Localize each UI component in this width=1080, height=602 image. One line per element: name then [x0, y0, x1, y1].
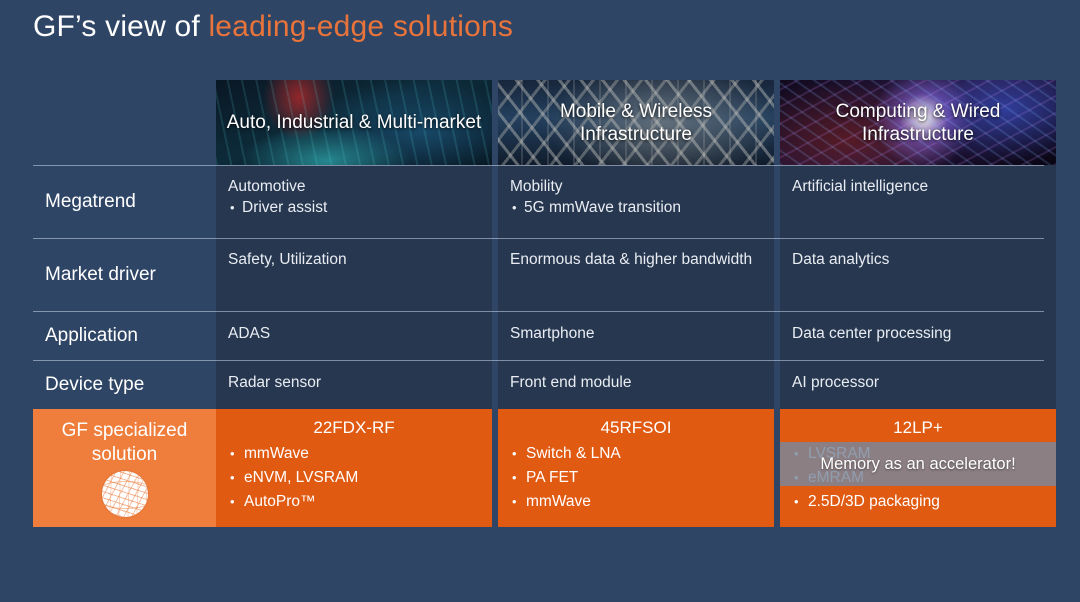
- cell-lead-text: Data analytics: [792, 249, 1056, 270]
- cell-lead-text: Data center processing: [792, 323, 1056, 344]
- cell-lead-text: Safety, Utilization: [228, 249, 492, 270]
- cell-lead-text: Enormous data & higher bandwidth: [510, 249, 774, 270]
- comparison-table: Auto, Industrial & Multi-market Mobile &…: [33, 80, 1044, 527]
- cell-market-driver-mobile: Enormous data & higher bandwidth: [498, 238, 774, 311]
- cell-lead-text: Artificial intelligence: [792, 176, 1056, 197]
- row-label-application: Application: [33, 311, 216, 360]
- row-divider: [33, 311, 1044, 312]
- cell-megatrend-auto: Automotive Driver assist: [216, 165, 492, 238]
- column-header-mobile-wireless[interactable]: Mobile & Wireless Infrastructure: [498, 80, 774, 165]
- cell-lead-text: Automotive: [228, 176, 492, 197]
- cell-device-type-mobile: Front end module: [498, 360, 774, 409]
- gf-bullet-list: mmWave eNVM, LVSRAM AutoPro™: [216, 442, 492, 514]
- cell-megatrend-mobile: Mobility 5G mmWave transition: [498, 165, 774, 238]
- row-label-gf-specialized-solution: GF specialized solution: [33, 409, 216, 527]
- cell-lead-text: Front end module: [510, 372, 774, 393]
- callout-text: Memory as an accelerator!: [820, 455, 1015, 474]
- table-row: Megatrend Automotive Driver assist Mobil…: [33, 165, 1044, 238]
- gf-solution-name: 12LP+: [780, 417, 1056, 439]
- list-item: 5G mmWave transition: [510, 197, 774, 218]
- list-item: Switch & LNA: [512, 442, 774, 466]
- table-row: Market driver Safety, Utilization Enormo…: [33, 238, 1044, 311]
- gf-specialized-solution-row: GF specialized solution 22FDX-RF mmWave …: [33, 409, 1044, 527]
- cell-bullet-list: 5G mmWave transition: [510, 197, 774, 218]
- row-divider: [33, 165, 1044, 166]
- row-label-megatrend: Megatrend: [33, 165, 216, 238]
- list-item: 2.5D/3D packaging: [794, 490, 1056, 514]
- row-label-device-type: Device type: [33, 360, 216, 409]
- callout-banner-memory-accelerator: Memory as an accelerator!: [780, 442, 1056, 486]
- list-item: Driver assist: [228, 197, 492, 218]
- title-prefix: GF’s view of: [33, 10, 208, 43]
- cell-lead-text: Smartphone: [510, 323, 774, 344]
- gf-globe-icon: [102, 471, 148, 517]
- cell-application-computing: Data center processing: [780, 311, 1056, 360]
- list-item: PA FET: [512, 466, 774, 490]
- gf-label-text: GF specialized solution: [33, 419, 216, 467]
- table-row: Device type Radar sensor Front end modul…: [33, 360, 1044, 409]
- cell-device-type-computing: AI processor: [780, 360, 1056, 409]
- gf-bullet-list: Switch & LNA PA FET mmWave: [498, 442, 774, 514]
- cell-lead-text: Radar sensor: [228, 372, 492, 393]
- cell-lead-text: ADAS: [228, 323, 492, 344]
- cell-market-driver-auto: Safety, Utilization: [216, 238, 492, 311]
- cell-application-mobile: Smartphone: [498, 311, 774, 360]
- cell-megatrend-computing: Artificial intelligence: [780, 165, 1056, 238]
- cell-device-type-auto: Radar sensor: [216, 360, 492, 409]
- table-row: Application ADAS Smartphone Data center …: [33, 311, 1044, 360]
- cell-gf-solution-auto: 22FDX-RF mmWave eNVM, LVSRAM AutoPro™: [216, 409, 492, 527]
- column-header-computing-wired[interactable]: Computing & Wired Infrastructure: [780, 80, 1056, 165]
- cell-gf-solution-mobile: 45RFSOI Switch & LNA PA FET mmWave: [498, 409, 774, 527]
- gf-solution-name: 22FDX-RF: [216, 417, 492, 439]
- gf-solution-name: 45RFSOI: [498, 417, 774, 439]
- cell-gf-solution-computing: 12LP+ LVSRAM eMRAM 2.5D/3D packaging Mem…: [780, 409, 1056, 527]
- page-title: GF’s view of leading-edge solutions: [33, 10, 513, 44]
- column-header-label: Computing & Wired Infrastructure: [780, 100, 1056, 146]
- column-header-auto-industrial[interactable]: Auto, Industrial & Multi-market: [216, 80, 492, 165]
- row-divider: [33, 238, 1044, 239]
- title-accent: leading-edge solutions: [208, 10, 513, 43]
- list-item: mmWave: [512, 490, 774, 514]
- cell-lead-text: AI processor: [792, 372, 1056, 393]
- header-corner-spacer: [33, 80, 216, 165]
- column-header-label: Mobile & Wireless Infrastructure: [498, 100, 774, 146]
- list-item: AutoPro™: [230, 490, 492, 514]
- cell-lead-text: Mobility: [510, 176, 774, 197]
- slide-canvas: GF’s view of leading-edge solutions Auto…: [0, 0, 1080, 602]
- list-item: eNVM, LVSRAM: [230, 466, 492, 490]
- cell-bullet-list: Driver assist: [228, 197, 492, 218]
- table-header-row: Auto, Industrial & Multi-market Mobile &…: [33, 80, 1044, 165]
- column-header-label: Auto, Industrial & Multi-market: [221, 111, 487, 134]
- cell-application-auto: ADAS: [216, 311, 492, 360]
- cell-market-driver-computing: Data analytics: [780, 238, 1056, 311]
- row-label-market-driver: Market driver: [33, 238, 216, 311]
- list-item: mmWave: [230, 442, 492, 466]
- row-divider: [33, 360, 1044, 361]
